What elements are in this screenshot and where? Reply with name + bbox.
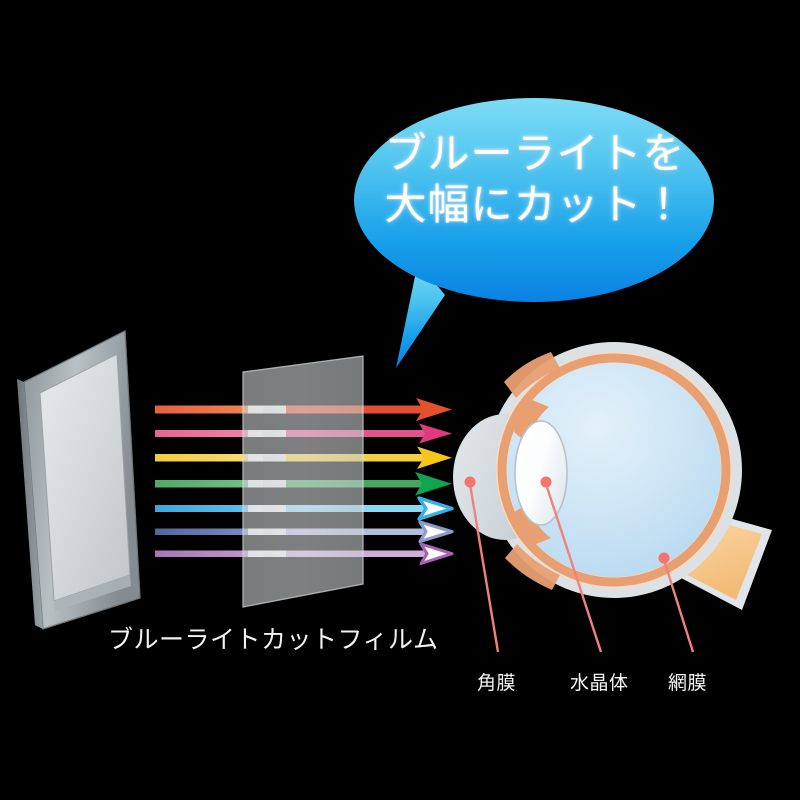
eye-label-retina: 網膜 [668, 668, 707, 695]
monitor-display [17, 331, 140, 629]
speech-bubble-line-1: ブルーライトを [365, 128, 705, 179]
film-panel-surface [243, 356, 363, 607]
eye-label-cornea: 角膜 [477, 668, 516, 695]
monitor-screen [40, 354, 130, 601]
leader-dot-lens [541, 477, 552, 488]
crystalline-lens [515, 421, 567, 525]
eye-label-lens: 水晶体 [570, 668, 629, 695]
leader-dot-cornea [465, 477, 476, 488]
speech-bubble-line-2: 大幅にカット！ [365, 179, 705, 230]
blue-light-cut-film-panel [243, 356, 363, 607]
film-caption: ブルーライトカットフィルム [108, 620, 439, 656]
leader-dot-retina [659, 553, 670, 564]
speech-bubble-text: ブルーライトを 大幅にカット！ [365, 128, 705, 230]
diagram-root: ブルーライトを 大幅にカット！ ブルーライトカットフィルム 角膜 水晶体 網膜 [0, 0, 800, 800]
